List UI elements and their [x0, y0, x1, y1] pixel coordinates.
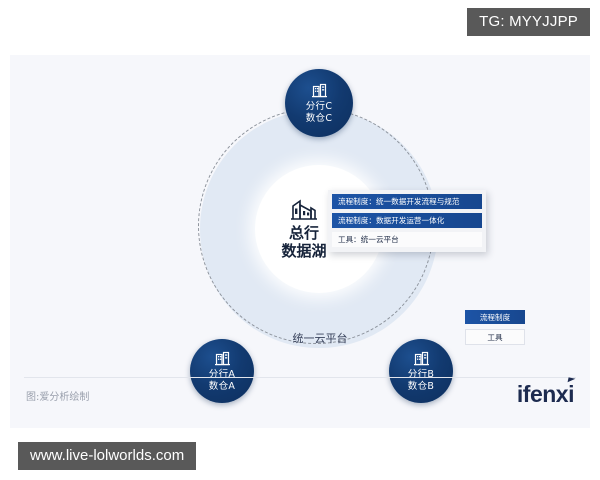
footer-divider	[24, 377, 576, 378]
cloud-platform-caption: 统一云平台	[255, 330, 385, 346]
node-a-line2: 数仓A	[209, 381, 235, 393]
node-branch-b[interactable]: 分行B 数仓B	[389, 339, 453, 403]
panel-row-process-1: 流程制度：统一数据开发流程与规范	[332, 194, 482, 209]
node-branch-a[interactable]: 分行A 数仓A	[190, 339, 254, 403]
legend: 流程制度 工具	[465, 310, 525, 350]
node-b-line1: 分行B	[408, 369, 434, 381]
building-icon	[311, 82, 328, 99]
url-watermark: www.live-lolworlds.com	[18, 442, 196, 470]
logo-text: ifenxi	[517, 381, 574, 407]
building-icon	[214, 350, 231, 367]
legend-item-tool: 工具	[465, 329, 525, 345]
node-c-line1: 分行C	[306, 101, 333, 113]
panel-row-tool: 工具：统一云平台	[332, 232, 482, 247]
node-c-line2: 数仓C	[306, 113, 333, 125]
tg-badge: TG: MYYJJPP	[467, 8, 590, 36]
node-b-line2: 数仓B	[408, 381, 434, 393]
panel-row-process-2: 流程制度：数据开发运营一体化	[332, 213, 482, 228]
detail-panel: 流程制度：统一数据开发流程与规范 流程制度：数据开发运营一体化 工具：统一云平台	[328, 190, 486, 252]
building-icon	[413, 350, 430, 367]
credit-text: 图:爱分析绘制	[26, 388, 89, 403]
node-branch-c[interactable]: 分行C 数仓C	[285, 69, 353, 137]
legend-item-process: 流程制度	[465, 310, 525, 324]
slide-card: 总行 数据湖	[10, 55, 590, 428]
ifenxi-logo: ifenxi	[517, 381, 574, 408]
diagram-stage: 总行 数据湖	[10, 55, 590, 375]
node-a-line1: 分行A	[209, 369, 235, 381]
